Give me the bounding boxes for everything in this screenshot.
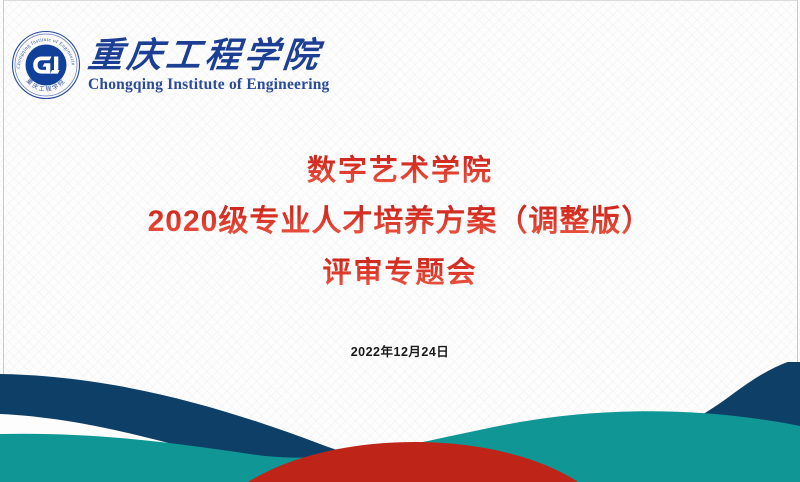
title-line-3: 评审专题会 [0, 254, 800, 292]
institution-logo-block: Chongqing Institute of Engineering 重庆工程学… [10, 26, 330, 104]
slide-title-block: 数字艺术学院 2020级专业人才培养方案（调整版） 评审专题会 [0, 152, 800, 292]
slide-date: 2022年12月24日 [0, 341, 800, 360]
institution-name-en: Chongqing Institute of Engineering [88, 76, 330, 93]
title-line-1: 数字艺术学院 [0, 152, 800, 190]
presentation-slide: Chongqing Institute of Engineering 重庆工程学… [0, 0, 800, 482]
decorative-wave-graphics [0, 362, 800, 482]
slide-frame-top [3, 0, 798, 1]
circular-seal-logo-icon: Chongqing Institute of Engineering 重庆工程学… [10, 29, 82, 101]
title-line-2: 2020级专业人才培养方案（调整版） [0, 202, 800, 242]
institution-name-block: 重庆工程学院 Chongqing Institute of Engineerin… [88, 37, 330, 93]
institution-name-cn: 重庆工程学院 [86, 37, 331, 75]
